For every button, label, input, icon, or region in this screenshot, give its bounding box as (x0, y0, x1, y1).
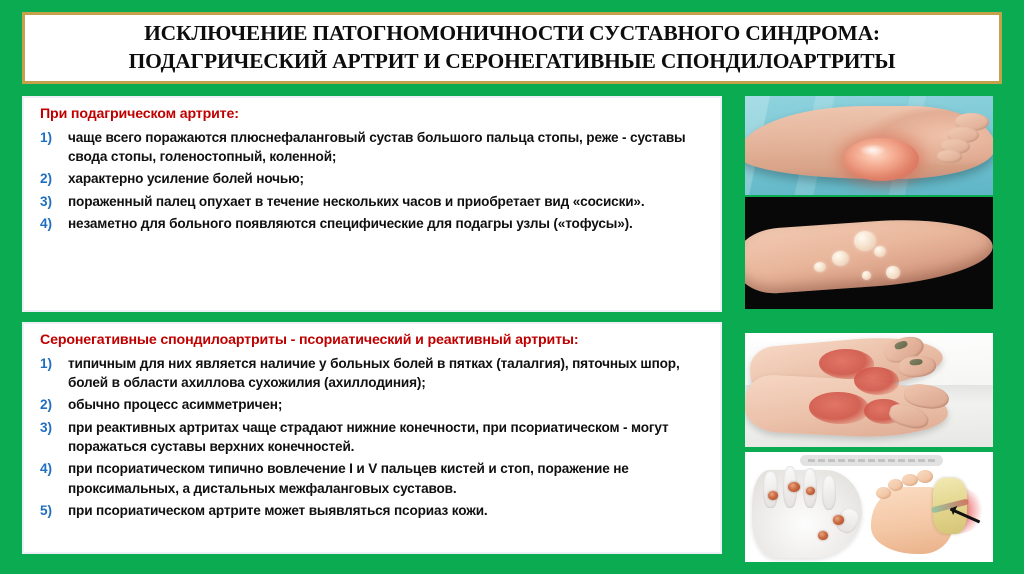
illustrated-finger (822, 475, 836, 510)
panel-gout-heading: При подагрическом артрите: (40, 106, 710, 124)
dystrophic-nail (909, 358, 922, 366)
gout-anatomy-illustration (745, 452, 993, 562)
slide-title: ИСКЛЮЧЕНИЕ ПАТОГНОМОНИЧНОСТИ СУСТАВНОГО … (25, 15, 999, 81)
list-item-text: пораженный палец опухает в течение неско… (68, 192, 644, 211)
list-item-text: типичным для них является наличие у боль… (68, 354, 710, 393)
illustrated-toe (888, 479, 903, 491)
panel-gout-list: 1) чаще всего поражаются плюснефаланговы… (40, 128, 710, 233)
list-item-text: при реактивных артритах чаще страдают ни… (68, 418, 710, 457)
illustrated-toe (917, 470, 933, 483)
foot-joint-illustration (869, 467, 983, 557)
illustrated-toe (902, 474, 918, 487)
hand-with-tophi-illustration (752, 470, 861, 558)
list-item: 4) при псориатическом типично вовлечение… (40, 459, 710, 498)
list-marker: 2) (40, 395, 68, 414)
list-marker: 3) (40, 192, 68, 211)
slide-title-line-1: ИСКЛЮЧЕНИЕ ПАТОГНОМОНИЧНОСТИ СУСТАВНОГО … (144, 20, 880, 48)
list-item-text: характерно усиление болей ночью; (68, 169, 304, 188)
list-marker: 3) (40, 418, 68, 437)
list-item: 3) пораженный палец опухает в течение не… (40, 192, 710, 211)
list-item-text: незаметно для больного появляются специф… (68, 214, 633, 233)
tophi-finger-photo (745, 197, 993, 309)
list-item: 1) типичным для них является наличие у б… (40, 354, 710, 393)
toe (937, 150, 962, 164)
list-item-text: чаще всего поражаются плюснефаланговый с… (68, 128, 710, 167)
urate-deposit (806, 487, 815, 495)
slide-title-line-2: ПОДАГРИЧЕСКИЙ АРТРИТ И СЕРОНЕГАТИВНЫЕ СП… (129, 48, 896, 76)
list-marker: 1) (40, 354, 68, 373)
tophus-nodule (854, 231, 876, 251)
dystrophic-nail (894, 339, 909, 350)
metatarsophalangeal-swelling (844, 138, 918, 182)
tophus-nodule (886, 266, 900, 278)
psoriatic-arthritis-hands-photo (745, 333, 993, 447)
psoriatic-plaque (854, 367, 899, 394)
toe-cluster (916, 112, 990, 173)
list-item-text: при псориатическом артрите может выявлят… (68, 501, 488, 520)
list-item: 4) незаметно для больного появляются спе… (40, 214, 710, 233)
list-item-text: обычно процесс асимметричен; (68, 395, 282, 414)
panel-spondyloarthritis: Серонегативные спондилоартриты - псориат… (22, 322, 722, 554)
list-item: 1) чаще всего поражаются плюснефаланговы… (40, 128, 710, 167)
slide-title-box: ИСКЛЮЧЕНИЕ ПАТОГНОМОНИЧНОСТИ СУСТАВНОГО … (22, 12, 1002, 84)
list-marker: 1) (40, 128, 68, 147)
list-item-text: при псориатическом типично вовлечение I … (68, 459, 710, 498)
tophus-nodule (814, 262, 825, 272)
panel-spondyloarthritis-list: 1) типичным для них является наличие у б… (40, 354, 710, 520)
list-marker: 4) (40, 214, 68, 233)
panel-gout: При подагрическом артрите: 1) чаще всего… (22, 96, 722, 312)
list-item: 3) при реактивных артритах чаще страдают… (40, 418, 710, 457)
list-item: 2) характерно усиление болей ночью; (40, 169, 710, 188)
gouty-foot-photo (745, 96, 993, 195)
list-item: 2) обычно процесс асимметричен; (40, 395, 710, 414)
urate-deposit (788, 482, 800, 493)
urate-deposit (768, 491, 778, 500)
tophus-nodule (862, 271, 872, 280)
illustration-caption-bar (800, 455, 944, 466)
list-item: 5) при псориатическом артрите может выяв… (40, 501, 710, 520)
illustrated-finger (763, 471, 777, 508)
list-marker: 5) (40, 501, 68, 520)
psoriatic-plaque (809, 392, 869, 424)
list-marker: 4) (40, 459, 68, 478)
panel-spondyloarthritis-heading: Серонегативные спондилоартриты - псориат… (40, 332, 710, 350)
list-marker: 2) (40, 169, 68, 188)
illustrated-toe (876, 487, 891, 499)
urate-deposit (818, 531, 828, 540)
slide-root: ИСКЛЮЧЕНИЕ ПАТОГНОМОНИЧНОСТИ СУСТАВНОГО … (0, 0, 1024, 574)
